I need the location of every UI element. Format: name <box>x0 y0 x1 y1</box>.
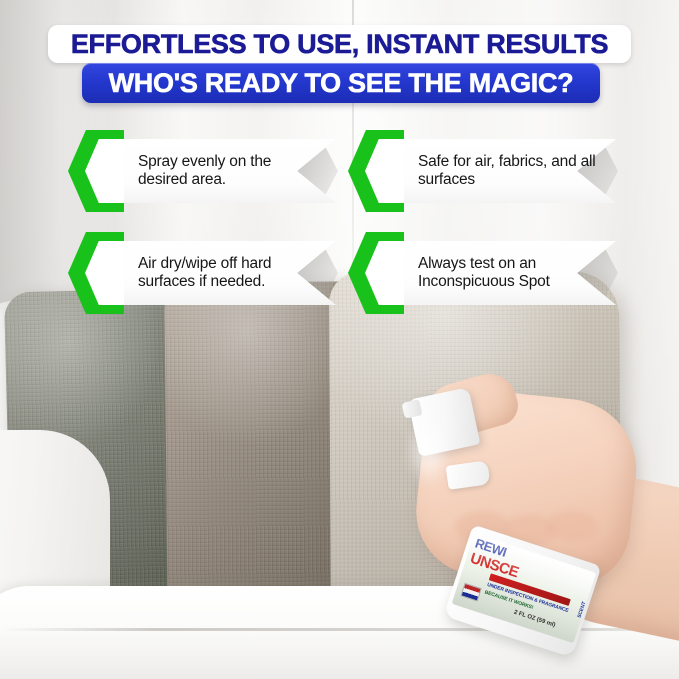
knuckle <box>547 511 597 541</box>
headline-primary: EFFORTLESS TO USE, INSTANT RESULTS <box>48 25 631 63</box>
feature-text: Safe for air, fabrics, and all surfaces <box>418 144 598 198</box>
feature-banner-2: Safe for air, fabrics, and all surfaces <box>348 130 616 212</box>
feature-text: Air dry/wipe off hard surfaces if needed… <box>138 246 318 300</box>
hand-holding-spray-bottle: REWI UNSCE UNDER INSPECTION & FRAGRANCE … <box>395 365 679 665</box>
chevron-icon <box>68 130 124 212</box>
headline-secondary-text: WHO'S READY TO SEE THE MAGIC? <box>109 68 574 99</box>
chevron-icon <box>348 130 404 212</box>
spray-mist <box>335 407 455 502</box>
headline-secondary: WHO'S READY TO SEE THE MAGIC? <box>82 63 600 103</box>
product-infographic: REWI UNSCE UNDER INSPECTION & FRAGRANCE … <box>0 0 679 679</box>
feature-banner-4: Always test on an Inconspicuous Spot <box>348 232 616 314</box>
chevron-icon <box>348 232 404 314</box>
feature-banner-1: Spray evenly on the desired area. <box>68 130 336 212</box>
headline-primary-text: EFFORTLESS TO USE, INSTANT RESULTS <box>71 29 608 60</box>
feature-banner-3: Air dry/wipe off hard surfaces if needed… <box>68 232 336 314</box>
chevron-icon <box>68 232 124 314</box>
feature-text: Spray evenly on the desired area. <box>138 144 318 198</box>
feature-text: Always test on an Inconspicuous Spot <box>418 246 598 300</box>
